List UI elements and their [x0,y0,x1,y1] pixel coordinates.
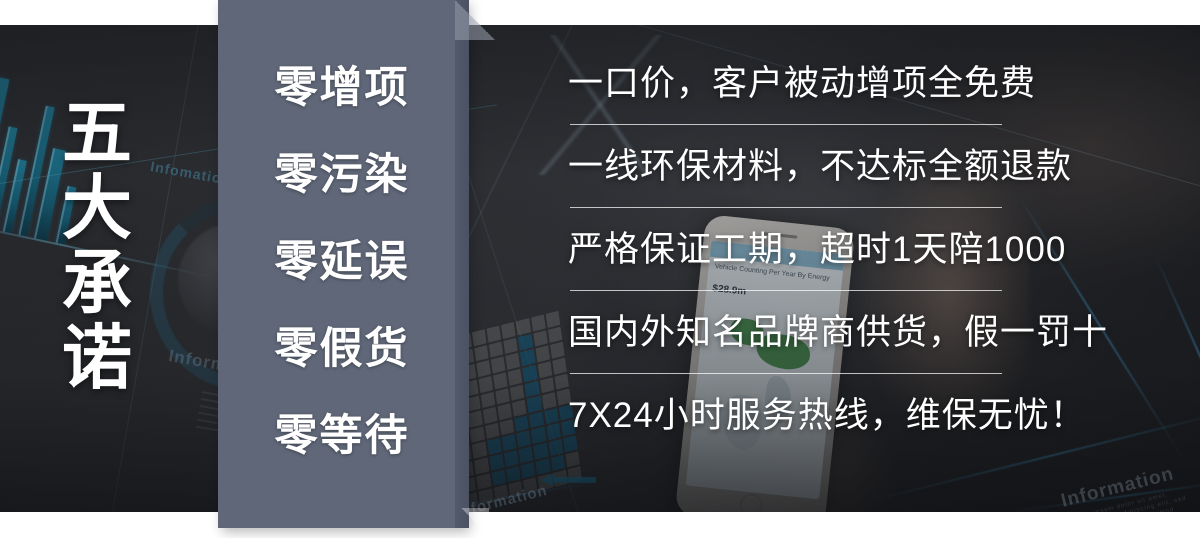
promise-text: 国内外知名品牌商供货，假一罚十 [568,301,1010,365]
highlights-list: 零增项 零污染 零延误 零假货 零等待 [218,0,466,528]
promise-divider [570,373,1002,374]
highlight-item: 零假货 [275,328,410,371]
promise-divider [570,290,1002,291]
highlight-item: 零等待 [275,415,410,458]
promise-divider [570,124,1002,125]
promise-row: 严格保证工期，超时1天陪1000 [568,218,1010,291]
promise-row: 7X24小时服务热线，维保无忧！ [568,384,1010,448]
title-char: 五 [62,96,154,171]
promise-text: 一线环保材料，不达标全额退款 [568,135,1010,199]
promise-row: 一口价，客户被动增项全免费 [568,52,1010,125]
promise-text: 严格保证工期，超时1天陪1000 [568,218,1010,282]
promise-list: 一口价，客户被动增项全免费 一线环保材料，不达标全额退款 严格保证工期，超时1天… [568,52,1010,448]
title-char: 大 [62,171,154,246]
highlight-item: 零延误 [275,241,410,284]
promise-row: 一线环保材料，不达标全额退款 [568,135,1010,208]
title-char: 诺 [62,321,154,396]
title-char: 承 [62,246,154,321]
promo-banner: Vehicle Counting Per Year By Energy $28.… [0,0,1200,538]
promise-text: 一口价，客户被动增项全免费 [568,52,1010,116]
promise-text: 7X24小时服务热线，维保无忧！ [568,384,1010,448]
promise-row: 国内外知名品牌商供货，假一罚十 [568,301,1010,374]
highlight-item: 零污染 [275,154,410,197]
highlight-item: 零增项 [275,67,410,110]
page-title: 五 大 承 诺 [62,96,154,396]
promise-divider [570,207,1002,208]
